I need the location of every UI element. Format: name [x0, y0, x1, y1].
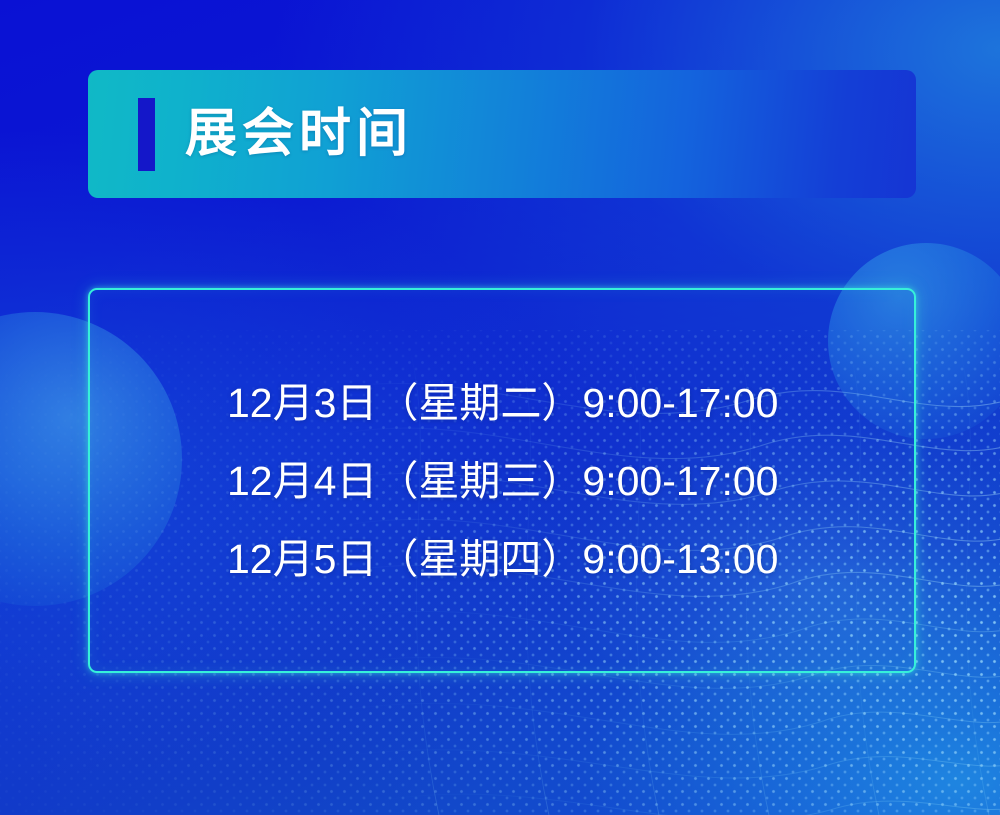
- poster-canvas: 展会时间 12月3日（星期二）9:00-17:00 12月4日（星期三）9:00…: [0, 0, 1000, 815]
- schedule-line: 12月4日（星期三）9:00-17:00: [227, 442, 914, 520]
- section-header-bar: 展会时间: [88, 70, 916, 198]
- accent-bar-decor: [138, 98, 155, 171]
- schedule-frame: 12月3日（星期二）9:00-17:00 12月4日（星期三）9:00-17:0…: [88, 288, 916, 673]
- page-title: 展会时间: [185, 108, 413, 160]
- schedule-line: 12月5日（星期四）9:00-13:00: [227, 520, 914, 598]
- schedule-line: 12月3日（星期二）9:00-17:00: [227, 364, 914, 442]
